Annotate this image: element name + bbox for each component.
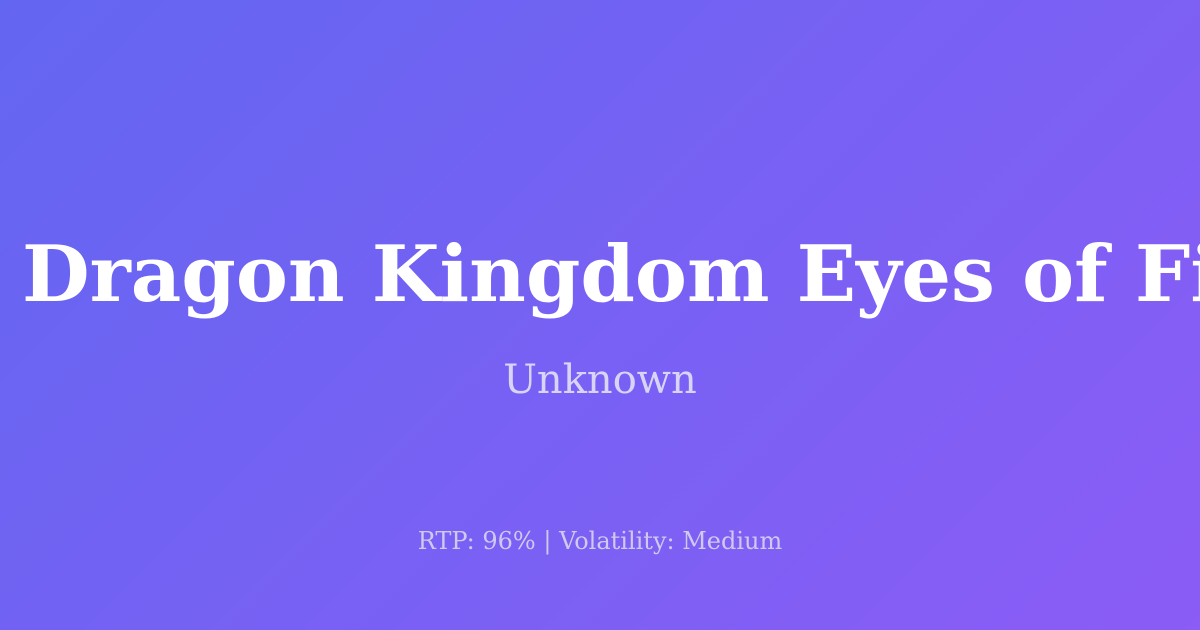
game-meta-text: RTP: 96% | Volatility: Medium: [418, 528, 783, 554]
meta-row: RTP: 96% | Volatility: Medium: [0, 528, 1200, 554]
og-share-card: Dragon Kingdom Eyes of Fire Unknown RTP:…: [0, 0, 1200, 630]
title-band: Dragon Kingdom Eyes of Fire: [0, 0, 1200, 340]
page-title: Dragon Kingdom Eyes of Fire: [0, 236, 1200, 314]
game-provider-label: Unknown: [503, 358, 697, 402]
subtitle-row: Unknown: [0, 358, 1200, 402]
